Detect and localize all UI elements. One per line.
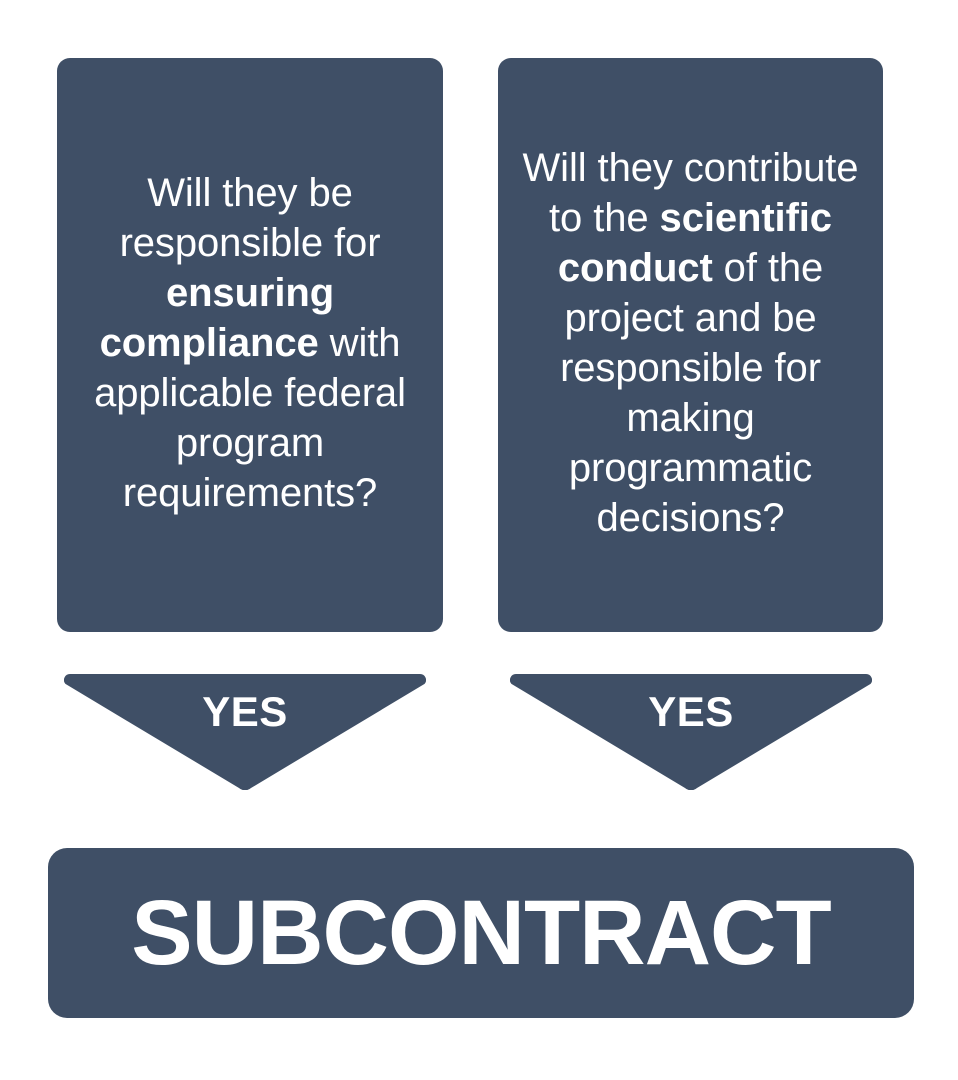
yes-arrow-right-label: YES [510, 690, 872, 734]
yes-arrow-left-label: YES [64, 690, 426, 734]
yes-arrow-left: YES [64, 674, 426, 790]
question-segment-plain: Will they be responsible for [120, 171, 381, 265]
question-segment-plain-tail: of the project and be responsible for ma… [560, 246, 823, 540]
result-label: SUBCONTRACT [131, 885, 830, 981]
question-segment-emphasis: ensuring compliance [100, 271, 334, 365]
decision-flow-diagram: Will they be responsible for ensuring co… [0, 0, 958, 1080]
yes-arrow-right: YES [510, 674, 872, 790]
result-box-subcontract[interactable]: SUBCONTRACT [48, 848, 914, 1018]
question-box-scientific-conduct[interactable]: Will they contribute to the scientific c… [498, 58, 883, 632]
question-text-compliance: Will they be responsible for ensuring co… [75, 168, 425, 518]
question-box-compliance[interactable]: Will they be responsible for ensuring co… [57, 58, 443, 632]
question-text-scientific-conduct: Will they contribute to the scientific c… [516, 143, 865, 543]
